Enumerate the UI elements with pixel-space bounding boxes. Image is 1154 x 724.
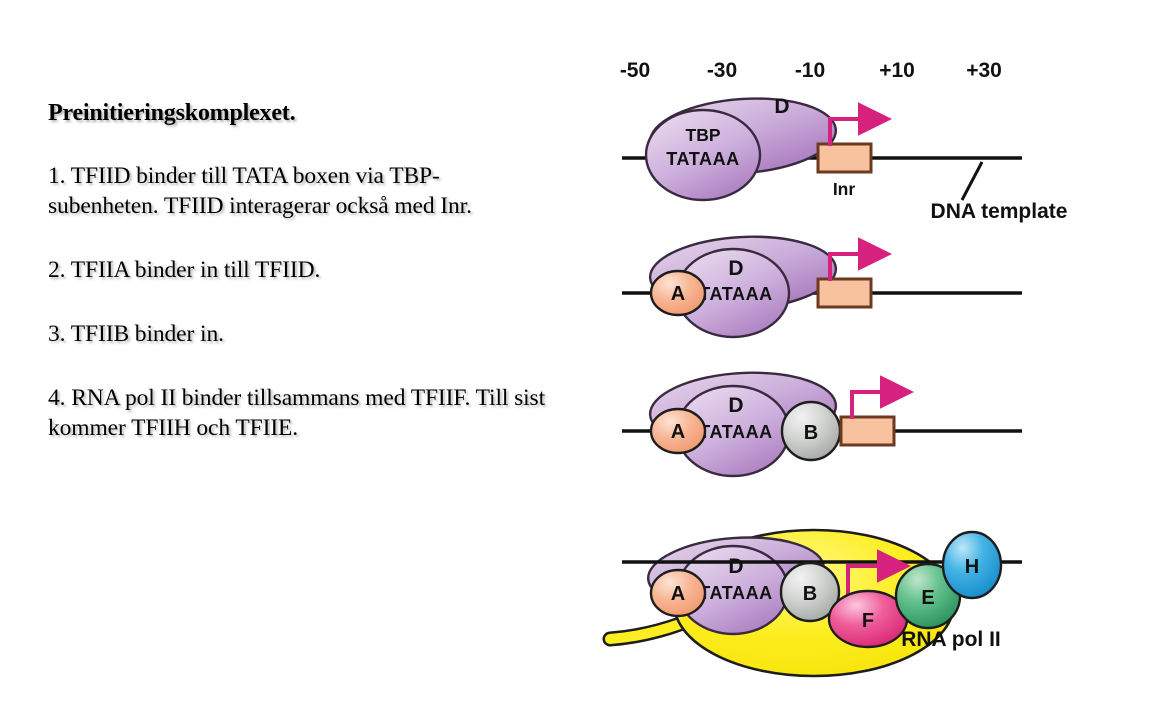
step-4-text: 4. RNA pol II binder tillsammans med TFI… <box>48 383 548 443</box>
inr-label: Inr <box>833 179 856 199</box>
tata-box-label: TATAAA <box>699 284 773 304</box>
step-3-text: 3. TFIIB binder in. <box>48 319 548 349</box>
scale-tick--50: -50 <box>620 59 650 82</box>
step-1-text: 1. TFIID binder till TATA boxen via TBP-… <box>48 161 548 221</box>
preinitiation-complex-diagram: -50 -30 -10 +10 +30 D TBP TATAAA Inr DNA <box>596 38 1154 698</box>
inr-box <box>818 144 871 172</box>
scale-tick-+30: +30 <box>966 59 1002 82</box>
tata-box-label: TATAAA <box>699 583 773 603</box>
subunit-label-a: A <box>671 421 685 443</box>
transcription-start-arrow <box>852 392 888 419</box>
subunit-label-d: D <box>728 394 743 417</box>
text-column: Preinitieringskomplexet. 1. TFIID binder… <box>48 100 548 443</box>
panel-4: D TATAAA A B F E H RNA pol II <box>610 530 1022 676</box>
dna-template-leader <box>962 162 982 200</box>
subunit-label-d: D <box>728 257 743 280</box>
subunit-label-d: D <box>728 555 743 578</box>
panel-3: D TATAAA A B <box>622 368 1022 476</box>
inr-box <box>841 417 894 445</box>
panel-1: D TBP TATAAA Inr DNA template <box>622 93 1067 223</box>
subunit-label-d: D <box>774 95 789 118</box>
dna-template-label: DNA template <box>931 200 1068 223</box>
inr-box <box>818 279 871 307</box>
scale-tick--10: -10 <box>795 59 825 82</box>
subunit-label-e: E <box>921 587 934 609</box>
subunit-label-b: B <box>803 583 817 605</box>
subunit-label-f: F <box>862 610 874 632</box>
subunit-label-a: A <box>671 583 685 605</box>
subunit-label-b: B <box>804 422 818 444</box>
page-title: Preinitieringskomplexet. <box>48 100 548 127</box>
rna-pol-label: RNA pol II <box>901 628 1001 651</box>
panel-2: D TATAAA A <box>622 232 1022 337</box>
tata-box-label: TATAAA <box>666 149 740 169</box>
position-scale: -50 -30 -10 +10 +30 <box>620 59 1002 82</box>
scale-tick-+10: +10 <box>879 59 915 82</box>
tbp-label: TBP <box>686 125 721 145</box>
step-2-text: 2. TFIIA binder in till TFIID. <box>48 255 548 285</box>
subunit-label-a: A <box>671 283 685 305</box>
subunit-label-h: H <box>965 556 979 578</box>
tata-box-label: TATAAA <box>699 422 773 442</box>
scale-tick--30: -30 <box>707 59 737 82</box>
slide-canvas: Preinitieringskomplexet. 1. TFIID binder… <box>0 0 1154 724</box>
